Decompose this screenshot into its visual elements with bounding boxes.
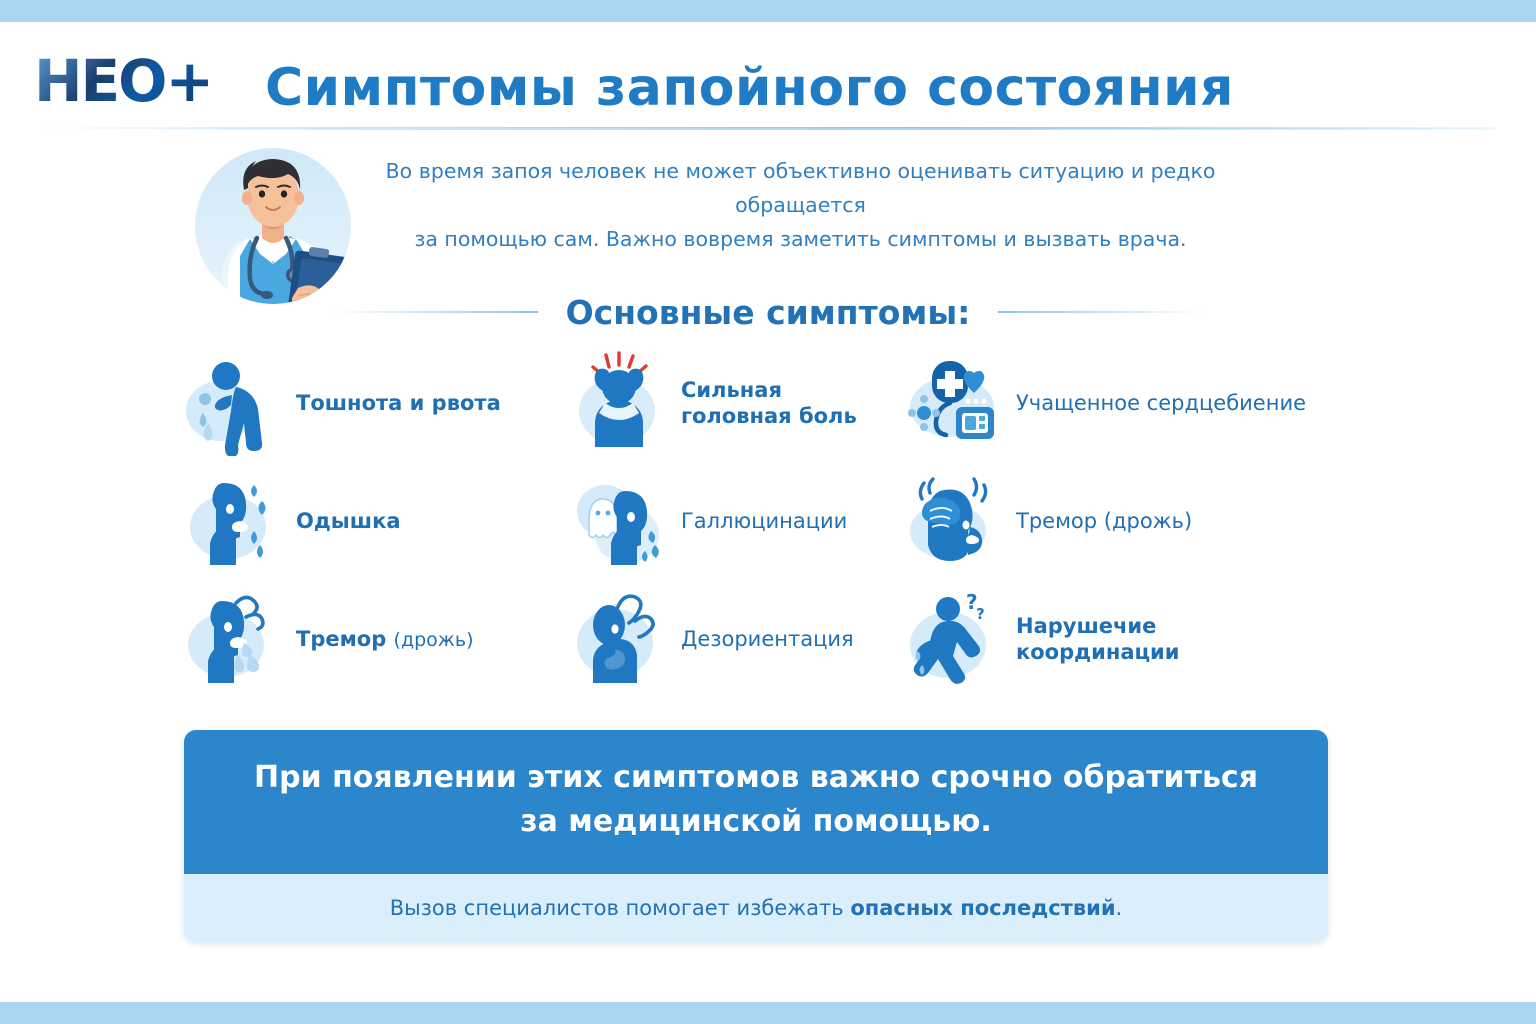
- symptom-item-dyspnea[interactable]: Одышка: [180, 462, 570, 580]
- head-holding-hands-icon: [900, 469, 1008, 574]
- symptom-row: Одышка: [180, 462, 1330, 580]
- section-title: Основные симптомы:: [566, 293, 971, 332]
- blood-pressure-monitor-icon: [900, 351, 1008, 456]
- callout-main: При появлении этих симптомов важно срочн…: [184, 730, 1328, 874]
- infographic-page: НЕО+ Симптомы запойного состояния: [0, 0, 1536, 1024]
- symptom-label: Тошнота и рвота: [296, 390, 501, 416]
- symptom-label: Учащенное сердцебиение: [1016, 390, 1306, 416]
- symptom-label: Нарушечие координации: [1016, 613, 1180, 665]
- symptom-label: Тремор (дрожь): [296, 626, 474, 653]
- callout-main-line-1: При появлении этих симптомов важно срочн…: [224, 756, 1288, 800]
- symptom-item-tachycardia[interactable]: Учащенное сердцебиение: [900, 344, 1330, 462]
- page-header: НЕО+ Симптомы запойного состояния: [0, 22, 1536, 128]
- symptom-label-line-1: Сильная: [681, 378, 782, 402]
- callout-main-line-2: за медицинской помощью.: [224, 800, 1288, 844]
- intro-line-1: Во время запоя человек не может объектив…: [386, 159, 1216, 217]
- symptom-item-hallucinations[interactable]: Галлюцинации: [565, 462, 905, 580]
- callout-box: При появлении этих симптомов важно срочн…: [184, 730, 1328, 942]
- symptom-item-headache[interactable]: Сильная головная боль: [565, 344, 905, 462]
- intro-section: Во время запоя человек не может объектив…: [0, 134, 1536, 264]
- symptom-item-tremor-head[interactable]: Тремор (дрожь): [900, 462, 1330, 580]
- sweating-person-icon: [180, 587, 288, 692]
- callout-footer-suffix: .: [1116, 896, 1123, 920]
- confused-person-icon: [565, 587, 673, 692]
- brand-logo: НЕО+: [34, 52, 212, 110]
- symptom-label: Одышка: [296, 508, 401, 534]
- intro-divider: [145, 128, 1496, 130]
- symptom-label: Дезориентация: [681, 626, 854, 652]
- intro-text: Во время запоя человек не может объектив…: [318, 154, 1283, 256]
- section-heading: Основные симптомы:: [0, 288, 1536, 336]
- symptom-label-main: Тремор: [296, 627, 394, 651]
- symptom-label-line-1: Нарушечие: [1016, 614, 1156, 638]
- callout-footer-prefix: Вызов специалистов помогает избежать: [390, 896, 851, 920]
- svg-text:?: ?: [976, 605, 985, 623]
- symptom-item-disorientation[interactable]: Дезориентация: [565, 580, 905, 698]
- symptom-label-line-2: головная боль: [681, 404, 857, 428]
- top-decorative-band: [0, 0, 1536, 22]
- symptom-row: Тошнота и рвота: [180, 344, 1330, 462]
- symptom-label: Галлюцинации: [681, 508, 847, 534]
- symptoms-grid: Тошнота и рвота: [180, 344, 1330, 704]
- section-rule-left: [333, 311, 538, 313]
- ghost-hallucination-icon: [565, 469, 673, 574]
- symptom-label-line-2: координации: [1016, 640, 1180, 664]
- callout-footer: Вызов специалистов помогает избежать опа…: [184, 874, 1328, 942]
- headache-person-icon: [565, 351, 673, 456]
- callout-footer-emphasis: опасных последствий: [850, 896, 1115, 920]
- symptom-label: Сильная головная боль: [681, 377, 857, 429]
- symptom-row: Тремор (дрожь): [180, 580, 1330, 698]
- section-rule-right: [998, 311, 1203, 313]
- breathless-person-icon: [180, 469, 288, 574]
- symptom-label: Тремор (дрожь): [1016, 508, 1192, 534]
- stumbling-person-icon: ? ?: [900, 587, 1008, 692]
- page-title: Симптомы запойного состояния: [265, 58, 1234, 118]
- intro-line-2: за помощью сам. Важно вовремя заметить с…: [414, 227, 1186, 251]
- vomiting-person-icon: [180, 351, 288, 456]
- symptom-item-tremor-sweat[interactable]: Тремор (дрожь): [180, 580, 570, 698]
- symptom-label-suffix: (дрожь): [394, 629, 474, 651]
- symptom-item-coordination[interactable]: ? ? Нарушечие координации: [900, 580, 1330, 698]
- bottom-decorative-band: [0, 1002, 1536, 1024]
- symptom-item-nausea[interactable]: Тошнота и рвота: [180, 344, 570, 462]
- callout-footer-text: Вызов специалистов помогает избежать опа…: [214, 894, 1298, 922]
